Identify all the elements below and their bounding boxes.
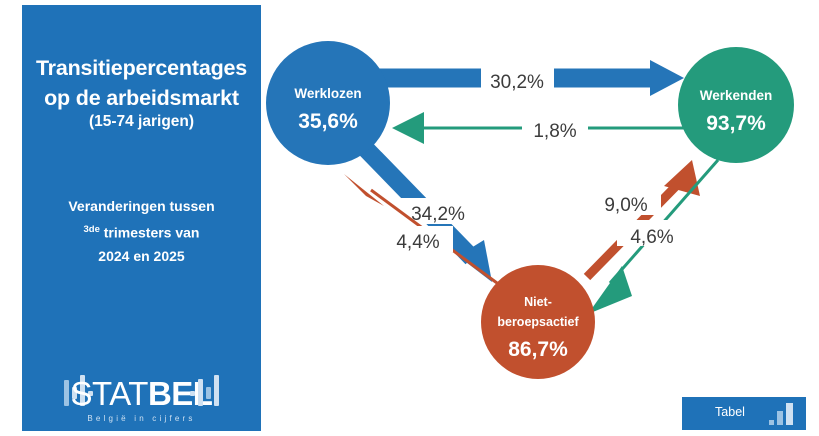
node-werkenden-value: 93,7% <box>706 112 766 135</box>
edge-nietberoepsactief-to-werkenden-label: 9,0% <box>604 195 647 216</box>
node-werklozen-label: Werklozen <box>294 86 361 101</box>
edge-werkenden-to-nietberoepsactief: 4,6% <box>588 160 718 314</box>
edge-nietberoepsactief-to-werklozen-arrowhead <box>344 174 384 206</box>
node-werklozen-circle[interactable] <box>266 41 390 165</box>
node-werklozen[interactable]: Werklozen 35,6% <box>266 41 390 165</box>
node-nietberoepsactief-value: 86,7% <box>508 338 568 361</box>
edge-werklozen-to-werkenden: 30,2% <box>378 60 684 96</box>
transition-flow-diagram: 30,2% 1,8% 34,2% 4,4% 9,0% <box>0 0 819 436</box>
node-werkenden-label: Werkenden <box>700 88 773 103</box>
node-werkenden[interactable]: Werkenden 93,7% <box>678 47 794 163</box>
edge-werkenden-to-nietberoepsactief-label: 4,6% <box>630 227 673 248</box>
node-werklozen-value: 35,6% <box>298 110 358 133</box>
infographic-page: Transitiepercentages op de arbeidsmarkt … <box>0 0 819 436</box>
edge-werkenden-to-werklozen: 1,8% <box>392 112 688 144</box>
edge-werkenden-to-werklozen-label: 1,8% <box>533 121 576 142</box>
edge-werkenden-to-werklozen-arrowhead <box>392 112 424 144</box>
node-nietberoepsactief-label-line2: beroepsactief <box>497 315 579 329</box>
bar-chart-icon <box>768 403 798 425</box>
edge-werklozen-to-nietberoepsactief: 34,2% <box>365 148 492 282</box>
tabel-button-label: Tabel <box>682 405 778 419</box>
edge-nietberoepsactief-to-werkenden: 9,0% <box>587 160 700 277</box>
node-nietberoepsactief[interactable]: Niet- beroepsactief 86,7% <box>481 265 595 379</box>
node-nietberoepsactief-label-line1: Niet- <box>524 295 552 309</box>
edge-werklozen-to-nietberoepsactief-label: 34,2% <box>411 204 465 225</box>
edge-nietberoepsactief-to-werklozen: 4,4% <box>344 174 497 283</box>
edge-werklozen-to-werkenden-arrowhead <box>650 60 684 96</box>
edge-nietberoepsactief-to-werklozen-label: 4,4% <box>396 232 439 253</box>
node-werkenden-circle[interactable] <box>678 47 794 163</box>
tabel-button[interactable]: Tabel <box>682 397 806 430</box>
edge-werklozen-to-werkenden-label: 30,2% <box>490 72 544 93</box>
